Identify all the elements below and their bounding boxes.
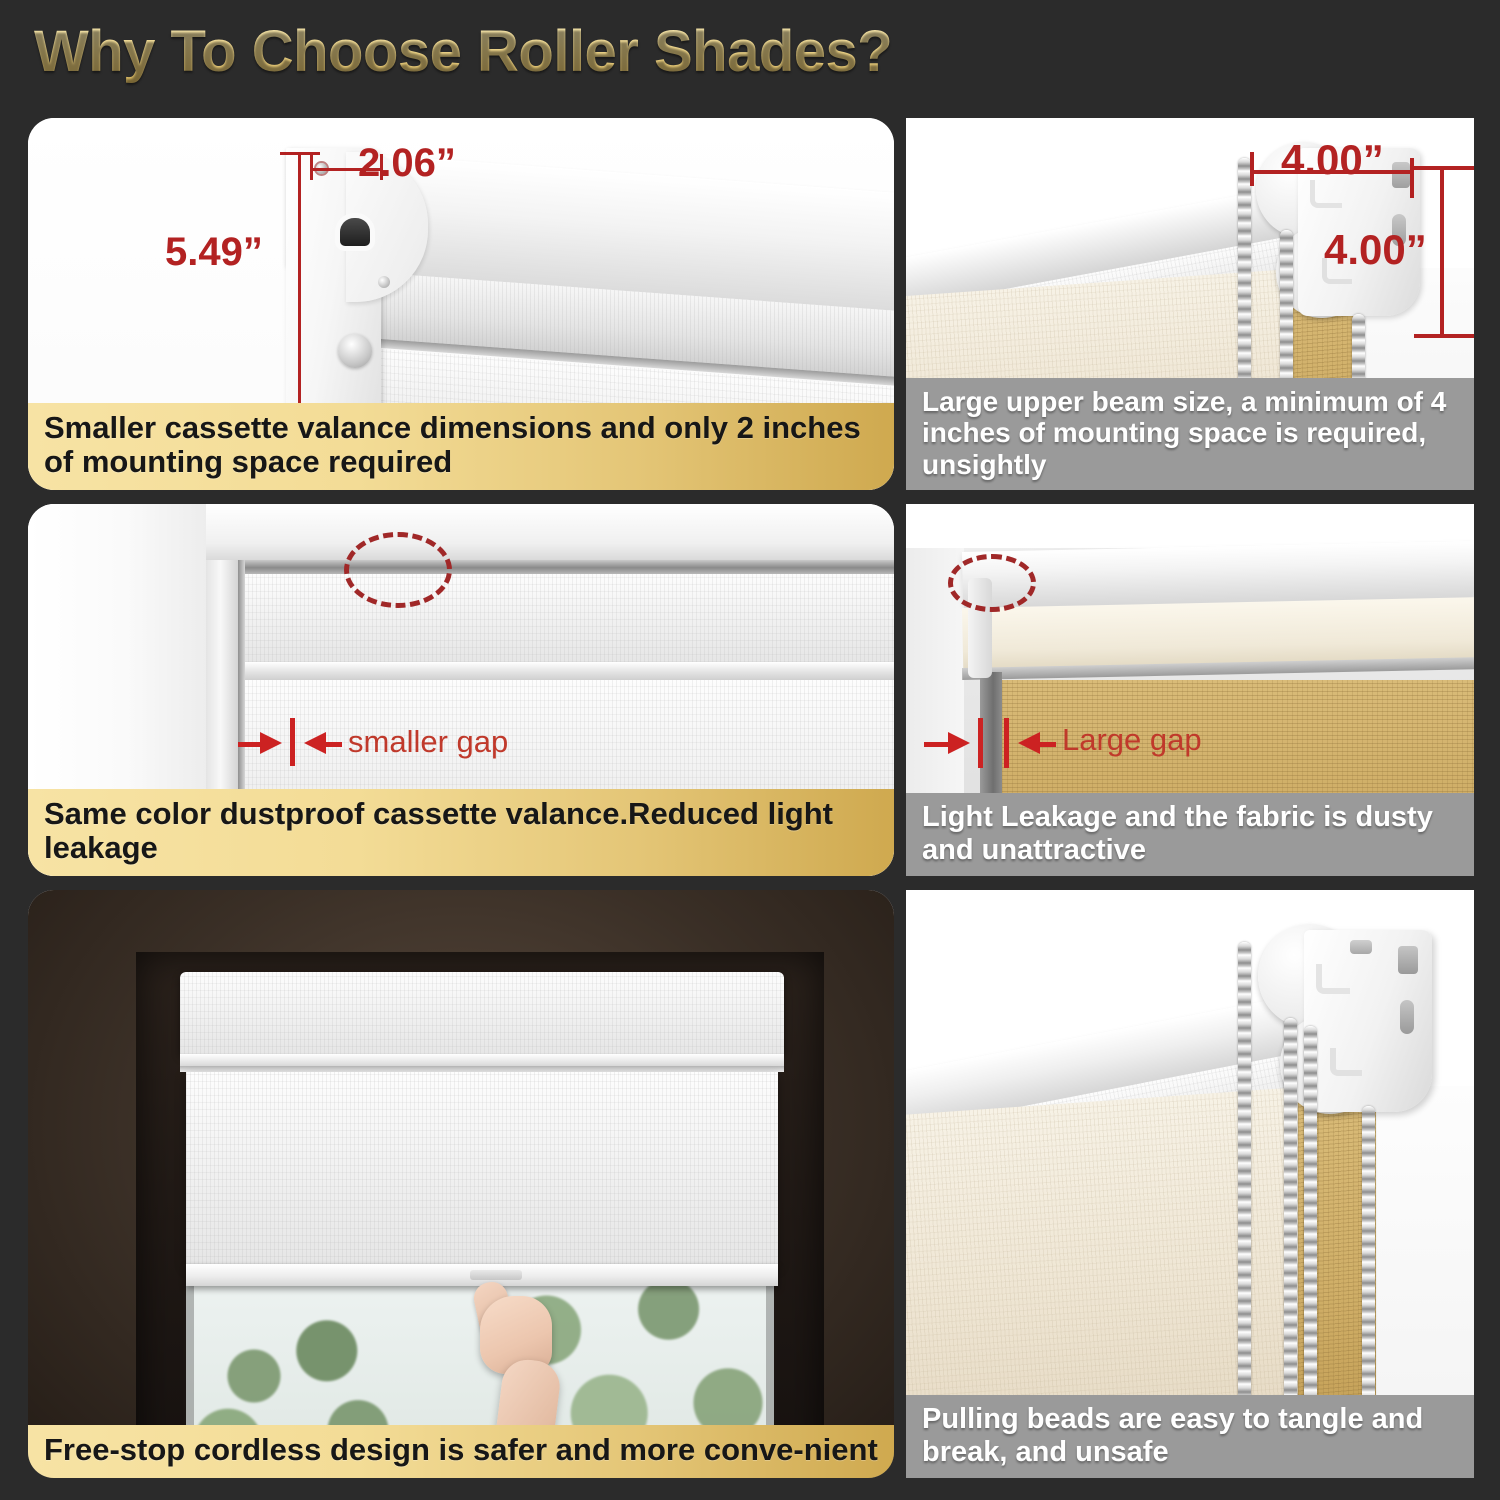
gap-label: Large gap: [1062, 722, 1202, 758]
gap-arrow-right: [948, 732, 970, 754]
beam-height-tick-top: [1414, 166, 1474, 170]
panel-caption: Same color dustproof cassette valance.Re…: [28, 789, 894, 876]
beam-width-tick-right: [1410, 158, 1414, 198]
bracket-notch: [1350, 940, 1372, 954]
gap-marker-bar-right: [1004, 718, 1009, 768]
page-title: Why To Choose Roller Shades?: [34, 18, 892, 85]
bracket-logo-upper: [1316, 964, 1350, 994]
height-dimension-label: 5.49”: [165, 230, 263, 275]
beam-height-label: 4.00”: [1324, 226, 1427, 274]
bottom-rail-tab: [470, 1270, 522, 1280]
cassette-head-rail: [238, 560, 894, 574]
beam-width-tick-left: [1250, 152, 1254, 186]
gap-arrow-left: [1018, 732, 1040, 754]
panel-cordless-design[interactable]: Free-stop cordless design is safer and m…: [28, 890, 894, 1478]
cordless-window-photo: [28, 890, 894, 1478]
panel-cassette-dimensions[interactable]: 5.49” 2.06” Smaller cassette valance dim…: [28, 118, 894, 490]
gap-arrow-stem-left: [238, 742, 262, 747]
screw-mid: [378, 276, 390, 288]
bead-chain-1[interactable]: [1238, 942, 1251, 1428]
cassette-valance: [180, 972, 784, 1054]
width-dim-tick-left: [310, 154, 313, 180]
panel-light-leakage[interactable]: Large gap Light Leakage and the fabric i…: [906, 504, 1474, 876]
ceiling-band: [906, 504, 1474, 548]
height-dim-tick-top: [280, 152, 320, 155]
panel-large-upper-beam[interactable]: 4.00” 4.00” Large upper beam size, a min…: [906, 118, 1474, 490]
bead-chain-2[interactable]: [1284, 1018, 1297, 1428]
gap-highlight-ellipse: [344, 532, 452, 608]
bead-chain-3[interactable]: [1304, 1026, 1317, 1428]
gap-label: smaller gap: [348, 724, 508, 760]
window-frame-top: [206, 504, 894, 560]
shade-fabric: [186, 1072, 778, 1264]
gap-marker-bar: [290, 718, 295, 766]
beam-height-tick-bottom: [1414, 334, 1474, 338]
panel-caption: Pulling beads are easy to tangle and bre…: [906, 1395, 1474, 1478]
gap-arrow-stem-right: [1038, 742, 1056, 747]
gap-arrow-stem-left: [924, 742, 950, 747]
tension-wheel: [338, 334, 372, 368]
panel-caption: Large upper beam size, a minimum of 4 in…: [906, 378, 1474, 490]
gap-arrow-stem-right: [324, 742, 342, 747]
bracket-slot-top: [1398, 946, 1418, 974]
cream-fabric-panel: [906, 1086, 1339, 1446]
gap-highlight-ellipse: [948, 554, 1036, 612]
pulling-beads-photo: [906, 890, 1474, 1478]
bracket-logo-lower: [1330, 1048, 1362, 1076]
beam-height-dim-line: [1440, 166, 1444, 338]
roller-socket: [340, 218, 370, 246]
panel-caption: Smaller cassette valance dimensions and …: [28, 403, 894, 490]
white-backing: [1376, 1086, 1474, 1428]
fabric-band-upper: [240, 574, 894, 662]
bracket-logo-upper: [1310, 180, 1342, 208]
panel-caption: Free-stop cordless design is safer and m…: [28, 1425, 894, 1478]
width-dimension-label: 2.06”: [358, 141, 456, 186]
panel-caption: Light Leakage and the fabric is dusty an…: [906, 793, 1474, 876]
gap-arrow-left: [304, 732, 326, 754]
panel-pulling-beads[interactable]: Pulling beads are easy to tangle and bre…: [906, 890, 1474, 1478]
bracket-slot-bottom: [1400, 1000, 1414, 1034]
gap-marker-bar-left: [978, 718, 983, 768]
valance-bottom-lip: [180, 1054, 784, 1066]
gap-arrow-right: [260, 732, 282, 754]
bead-chain-4[interactable]: [1362, 1106, 1375, 1428]
panel-smaller-gap[interactable]: smaller gap Same color dustproof cassett…: [28, 504, 894, 876]
bracket-slot-top: [1392, 162, 1410, 188]
valance-separator: [240, 662, 894, 680]
beam-width-label: 4.00”: [1281, 136, 1384, 184]
